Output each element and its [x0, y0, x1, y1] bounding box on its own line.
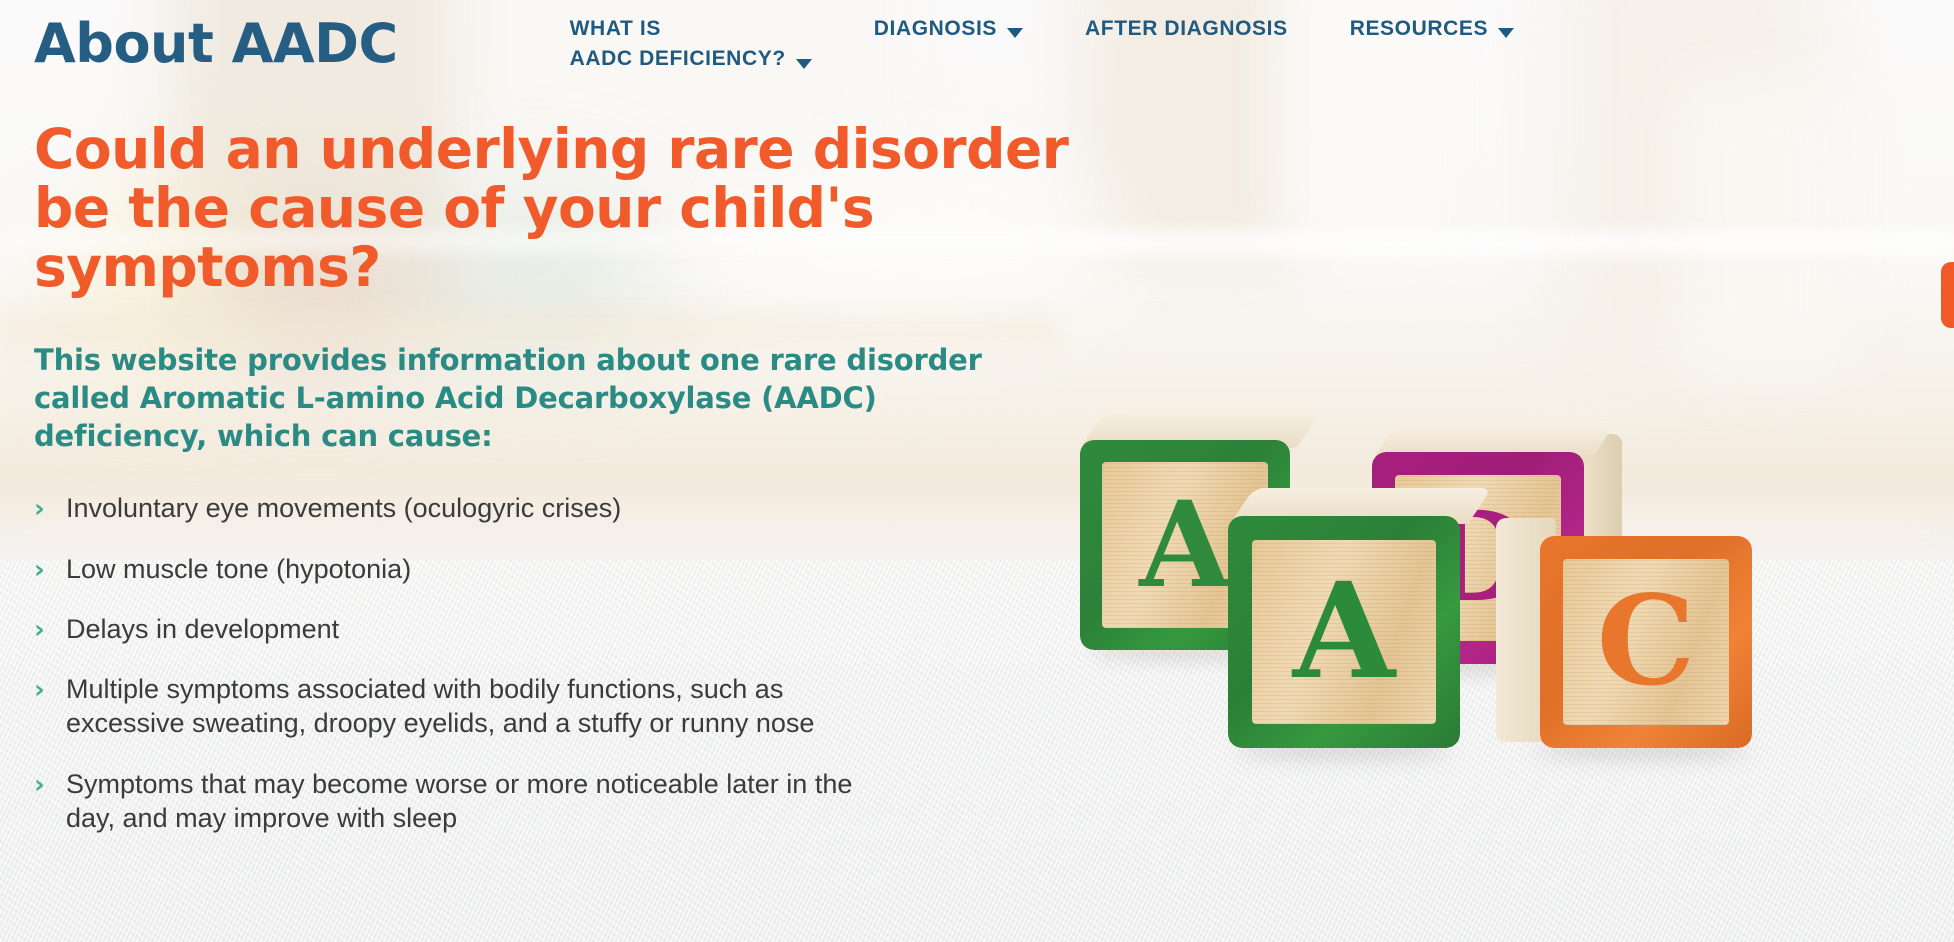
chevron-right-icon: › [34, 615, 58, 646]
list-item: › Involuntary eye movements (oculogyric … [34, 491, 1154, 525]
chevron-right-icon: › [34, 555, 58, 586]
chevron-right-icon: › [34, 770, 58, 801]
wooden-block-c: C [1540, 536, 1752, 748]
symptoms-list: › Involuntary eye movements (oculogyric … [34, 491, 1154, 835]
list-item: › Delays in development [34, 612, 1154, 646]
list-item: › Symptoms that may become worse or more… [34, 767, 1154, 836]
hero-headline: Could an underlying rare disorder be the… [34, 120, 1154, 297]
chevron-down-icon [796, 59, 812, 69]
block-wood-panel: A [1252, 540, 1436, 724]
chevron-down-icon [1498, 28, 1514, 38]
main-navigation: WHAT IS AADC DEFICIENCY? DIAGNOSIS AFTER… [570, 14, 1514, 75]
block-front-face: A [1228, 516, 1460, 748]
wooden-block-a-front: A [1228, 516, 1460, 748]
aadc-blocks-image: A D C [1080, 430, 1780, 730]
chevron-down-icon [1007, 28, 1023, 38]
site-logo[interactable]: About AADC [34, 12, 398, 75]
list-item-label: Low muscle tone (hypotonia) [66, 552, 866, 586]
nav-resources[interactable]: RESOURCES [1350, 14, 1514, 44]
block-front-face: C [1540, 536, 1752, 748]
hero-content: Could an underlying rare disorder be the… [34, 120, 1154, 835]
bg-shelf-line [1060, 236, 1954, 254]
block-letter: A [1293, 566, 1395, 698]
block-wood-panel: C [1563, 559, 1729, 725]
nav-after-diagnosis[interactable]: AFTER DIAGNOSIS [1085, 14, 1288, 44]
chevron-right-icon: › [34, 675, 58, 706]
block-letter: C [1597, 580, 1696, 704]
nav-what-is-aadc-deficiency[interactable]: WHAT IS AADC DEFICIENCY? [570, 14, 812, 75]
nav-diagnosis[interactable]: DIAGNOSIS [874, 14, 1023, 44]
nav-item-label: RESOURCES [1350, 14, 1488, 44]
list-item-label: Symptoms that may become worse or more n… [66, 767, 866, 836]
site-header: About AADC WHAT IS AADC DEFICIENCY? DIAG… [0, 0, 1954, 100]
page-root: About AADC WHAT IS AADC DEFICIENCY? DIAG… [0, 0, 1954, 942]
list-item-label: Multiple symptoms associated with bodily… [66, 672, 866, 741]
chevron-right-icon: › [34, 494, 58, 525]
hero-subhead: This website provides information about … [34, 341, 1044, 456]
list-item-label: Delays in development [66, 612, 866, 646]
nav-item-label: AFTER DIAGNOSIS [1085, 14, 1288, 44]
list-item: › Low muscle tone (hypotonia) [34, 552, 1154, 586]
list-item-label: Involuntary eye movements (oculogyric cr… [66, 491, 866, 525]
nav-item-label: DIAGNOSIS [874, 14, 997, 44]
list-item: › Multiple symptoms associated with bodi… [34, 672, 1154, 741]
side-feedback-tab[interactable] [1941, 262, 1954, 328]
nav-item-label: WHAT IS AADC DEFICIENCY? [570, 14, 786, 75]
